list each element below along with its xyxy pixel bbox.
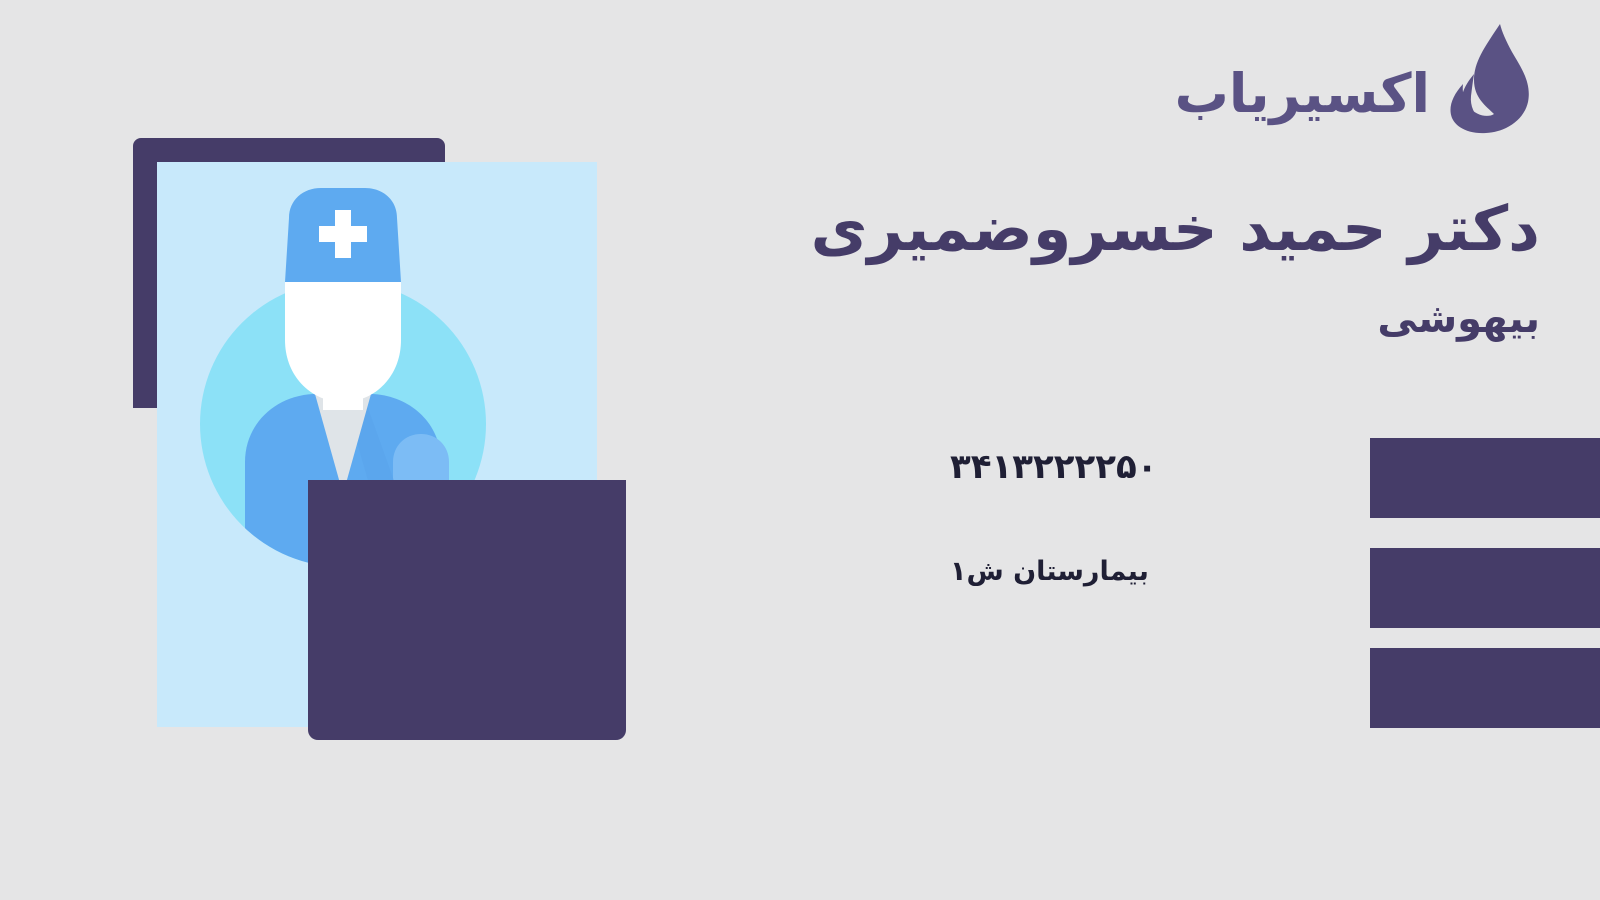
profile-info: دکتر حمید خسروضمیری بیهوشی xyxy=(640,190,1540,342)
flame-icon xyxy=(1444,22,1530,134)
accent-bar-extra xyxy=(1370,648,1600,728)
address-text: بیمارستان ش۱ xyxy=(950,556,1370,587)
accent-bar-address xyxy=(1370,548,1600,628)
phone-number[interactable]: ۳۴۱۳۲۲۲۲۵۰ xyxy=(950,447,1370,487)
doctor-illustration xyxy=(0,0,700,820)
brand-name: اکسیریاب xyxy=(1175,67,1430,121)
doctor-profile-card: اکسیریاب xyxy=(0,0,1600,900)
decorative-square-front xyxy=(308,480,626,740)
doctor-specialty: بیهوشی xyxy=(640,296,1540,342)
accent-bar-phone xyxy=(1370,438,1600,518)
doctor-name: دکتر حمید خسروضمیری xyxy=(640,190,1540,268)
brand-logo[interactable]: اکسیریاب xyxy=(1175,22,1530,134)
